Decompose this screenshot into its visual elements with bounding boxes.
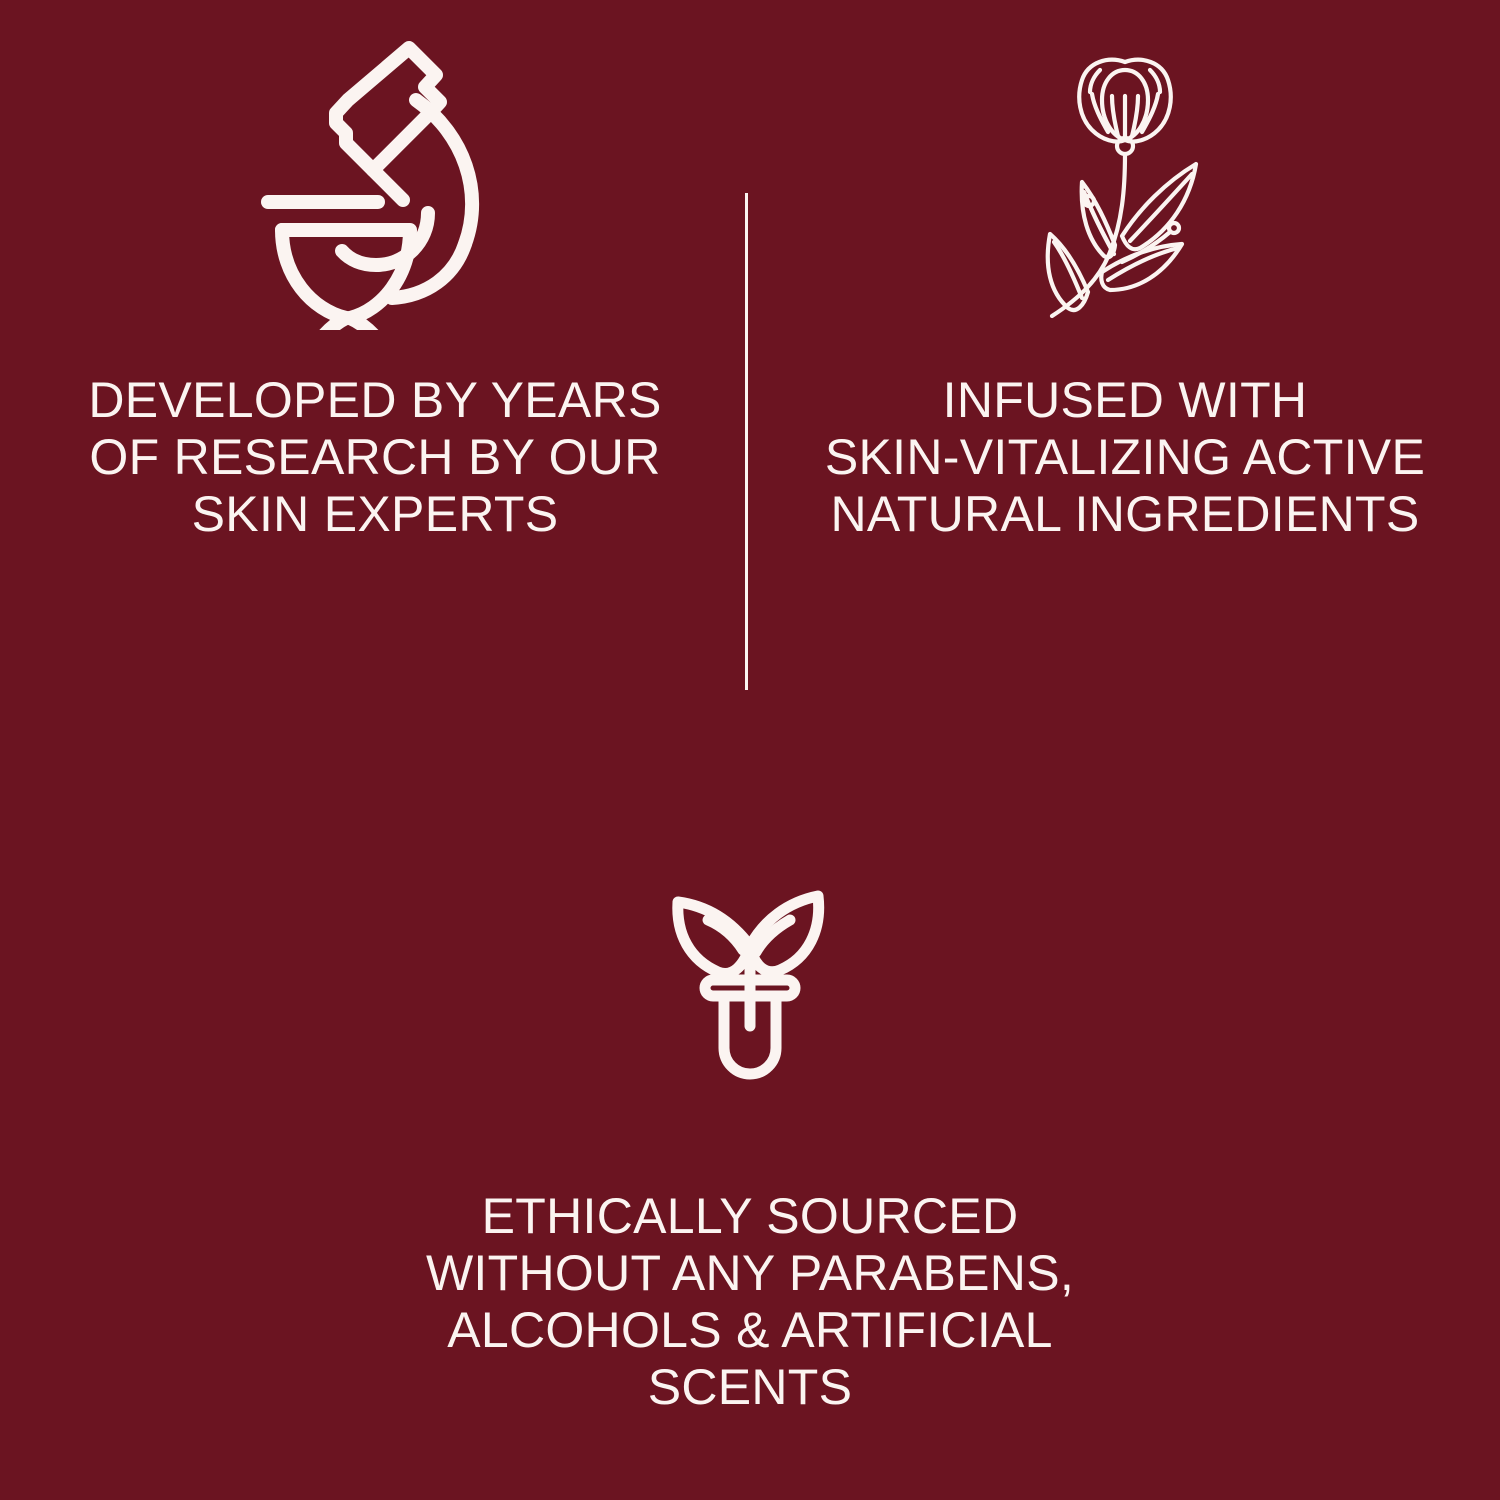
column-divider (745, 193, 748, 690)
feature-item-research: DEVELOPED BY YEARS OF RESEARCH BY OUR SK… (0, 0, 750, 760)
feature-label-ingredients: INFUSED WITH SKIN-VITALIZING ACTIVE NATU… (795, 372, 1455, 543)
top-feature-row: DEVELOPED BY YEARS OF RESEARCH BY OUR SK… (0, 0, 1500, 760)
flower-sprig-icon (1030, 0, 1220, 330)
test-tube-sprout-icon (650, 760, 850, 1100)
feature-label-ethical: ETHICALLY SOURCED WITHOUT ANY PARABENS, … (300, 1188, 1200, 1416)
brand-benefits-panel: DEVELOPED BY YEARS OF RESEARCH BY OUR SK… (0, 0, 1500, 1500)
feature-item-ingredients: INFUSED WITH SKIN-VITALIZING ACTIVE NATU… (750, 0, 1500, 760)
feature-label-research: DEVELOPED BY YEARS OF RESEARCH BY OUR SK… (65, 372, 685, 543)
microscope-icon (250, 0, 500, 330)
feature-item-ethical: ETHICALLY SOURCED WITHOUT ANY PARABENS, … (0, 760, 1500, 1500)
